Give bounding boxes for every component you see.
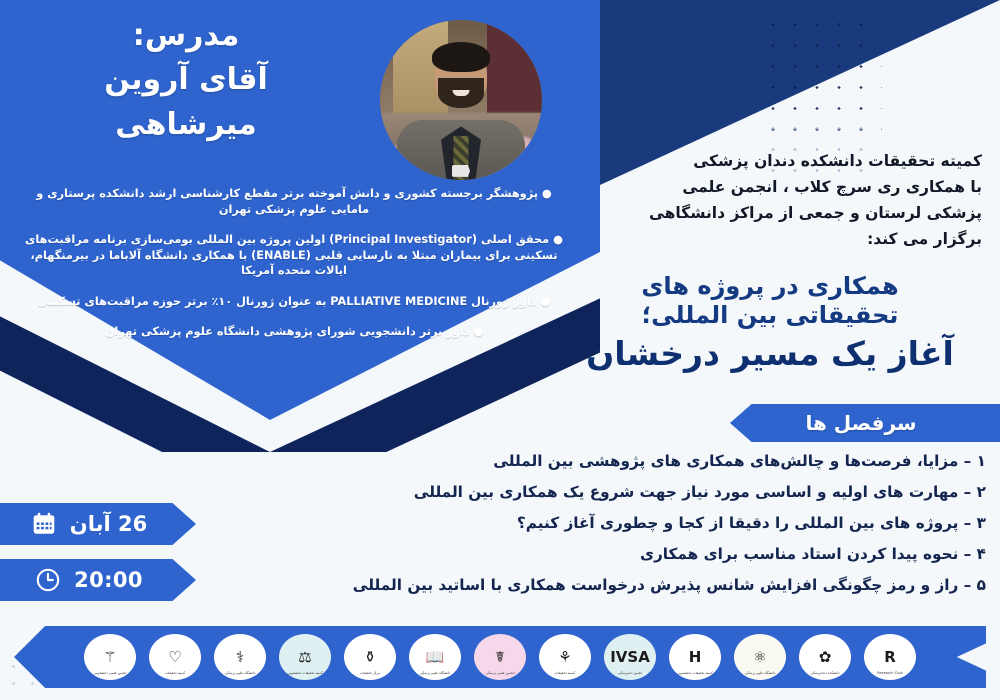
headline-subtitle-1: همکاری در پروژه های	[560, 272, 980, 301]
sponsor-logo-caption: کمیته تحقیقات	[149, 671, 201, 675]
sponsor-logo: ⚖ کمیته تحقیقات دانشجویی	[279, 634, 331, 680]
organizers-block: کمیته تحقیقات دانشکده دندان پزشکی با همک…	[582, 148, 982, 252]
sponsor-logo-caption: Research Club	[864, 671, 916, 675]
topic-item: ۲ – مهارت های اولیه و اساسی مورد نیاز جه…	[196, 483, 986, 503]
credential-item: ● داور ژورنال PALLIATIVE MEDICINE به عنو…	[16, 294, 572, 310]
sponsor-logo-mark: ⚕	[236, 650, 244, 665]
event-headline: همکاری در پروژه های تحقیقاتی بین المللی؛…	[560, 272, 980, 373]
clock-icon	[35, 567, 61, 593]
sponsor-logo-mark: ⚖	[298, 650, 311, 665]
speaker-title: مدرس: آقای آروین میرشاهی	[0, 14, 372, 147]
sponsor-logo: ☤ انجمن علمی پزشکی	[474, 634, 526, 680]
sponsor-logo-mark: H	[689, 650, 702, 665]
speaker-name-first: آقای آروین	[0, 58, 372, 102]
organizer-line-2: با همکاری ری سرچ کلاب ، انجمن علمی	[582, 174, 982, 200]
speaker-name-last: میرشاهی	[0, 103, 372, 147]
topic-item: ۱ – مزایا، فرصت‌ها و چالش‌های همکاری های…	[196, 452, 986, 472]
calendar-icon	[31, 511, 57, 537]
sponsor-logo-strip: R Research Club ✿ دانشکده دندانپزشکی ⚛ د…	[14, 626, 986, 688]
topics-banner-label: سرفصل ها	[805, 411, 924, 435]
sponsor-logo-mark: IVSA	[610, 650, 650, 665]
sponsor-logo-caption: کمیته تحقیقات دانشجویی	[669, 671, 721, 675]
sponsor-logo: ⚱ مرکز تحقیقات	[344, 634, 396, 680]
sponsor-logo: 📖 دانشگاه علوم پزشکی	[409, 634, 461, 680]
sponsor-logo: IVSA انجمن دامپزشکی	[604, 634, 656, 680]
sponsor-logo: H کمیته تحقیقات دانشجویی	[669, 634, 721, 680]
sponsor-logo-mark: R	[884, 650, 896, 665]
topic-item: ۴ – نحوه پیدا کردن استاد مناسب برای همکا…	[196, 545, 986, 565]
organizer-line-3: پزشکی لرستان و جمعی از مراکز دانشگاهی	[582, 200, 982, 226]
sponsor-logo: ✿ دانشکده دندانپزشکی	[799, 634, 851, 680]
photo-name-badge	[452, 165, 470, 177]
sponsor-logo: ⚕ دانشگاه علوم پزشکی	[214, 634, 266, 680]
sponsor-logo-caption: کمیته تحقیقات	[539, 671, 591, 675]
sponsor-logo: ♡ کمیته تحقیقات	[149, 634, 201, 680]
photo-hair	[432, 42, 490, 72]
speaker-credentials-list: ● پژوهشگر برجسته کشوری و دانش آموخته برت…	[16, 186, 572, 340]
event-date-badge: 26 آبان	[0, 503, 196, 545]
headline-main: آغاز یک مسیر درخشان	[560, 335, 980, 374]
sponsor-logo: ⚛ دانشگاه علوم پزشکی	[734, 634, 786, 680]
sponsor-logo-caption: انجمن دامپزشکی	[604, 671, 656, 675]
speaker-label: مدرس:	[0, 14, 372, 58]
sponsor-logo-caption: مرکز تحقیقات	[344, 671, 396, 675]
headline-subtitle-2: تحقیقاتی بین المللی؛	[560, 301, 980, 330]
event-time-value: 20:00	[74, 568, 143, 592]
sponsor-logo-caption: دانشکده دندانپزشکی	[799, 671, 851, 675]
sponsor-logo-caption: دانشگاه علوم پزشکی	[734, 671, 786, 675]
sponsor-logo-caption: انجمن علمی پزشکی	[474, 671, 526, 675]
credential-item: ● پژوهشگر برجسته کشوری و دانش آموخته برت…	[16, 186, 572, 217]
sponsor-logo: ⚚ انجمن علمی دانشجویی	[84, 634, 136, 680]
topic-item: ۳ – پروژه های بین المللی را دقیقا از کجا…	[196, 514, 986, 534]
topics-list: ۱ – مزایا، فرصت‌ها و چالش‌های همکاری های…	[196, 452, 986, 606]
topic-item: ۵ – راز و رمز چگونگی افزایش شانس پذیرش د…	[196, 576, 986, 596]
sponsor-logo-caption: انجمن علمی دانشجویی	[84, 671, 136, 675]
sponsor-logo-mark: ✿	[819, 650, 832, 665]
sponsor-logo-caption: کمیته تحقیقات دانشجویی	[279, 671, 331, 675]
event-time-badge: 20:00	[0, 559, 196, 601]
sponsor-logo-mark: 📖	[426, 650, 445, 665]
sponsor-logo-caption: دانشگاه علوم پزشکی	[214, 671, 266, 675]
sponsor-logo-mark: ☤	[495, 650, 505, 665]
credential-item: ● داور برتر دانشجویی شورای پژوهشی دانشگا…	[16, 324, 572, 340]
event-poster: مدرس: آقای آروین میرشاهی ● پژوهشگر برجست…	[0, 0, 1000, 700]
sponsor-logo-mark: ♡	[168, 650, 181, 665]
sponsor-logo-mark: ⚛	[753, 650, 766, 665]
topics-banner: سرفصل ها	[730, 404, 1000, 442]
speaker-photo	[380, 20, 542, 180]
event-date-value: 26 آبان	[70, 512, 147, 536]
credential-item: ● محقق اصلی (Principal Investigator) اول…	[16, 232, 572, 279]
sponsor-logo: ⚘ کمیته تحقیقات	[539, 634, 591, 680]
sponsor-logo-mark: ⚚	[103, 650, 116, 665]
photo-backdrop-dark	[487, 20, 542, 113]
organizer-line-1: کمیته تحقیقات دانشکده دندان پزشکی	[582, 148, 982, 174]
sponsor-logo: R Research Club	[864, 634, 916, 680]
sponsor-logo-mark: ⚘	[558, 650, 571, 665]
organizer-line-4: برگزار می کند:	[582, 226, 982, 252]
sponsor-logo-mark: ⚱	[364, 650, 377, 665]
sponsor-logo-caption: دانشگاه علوم پزشکی	[409, 671, 461, 675]
